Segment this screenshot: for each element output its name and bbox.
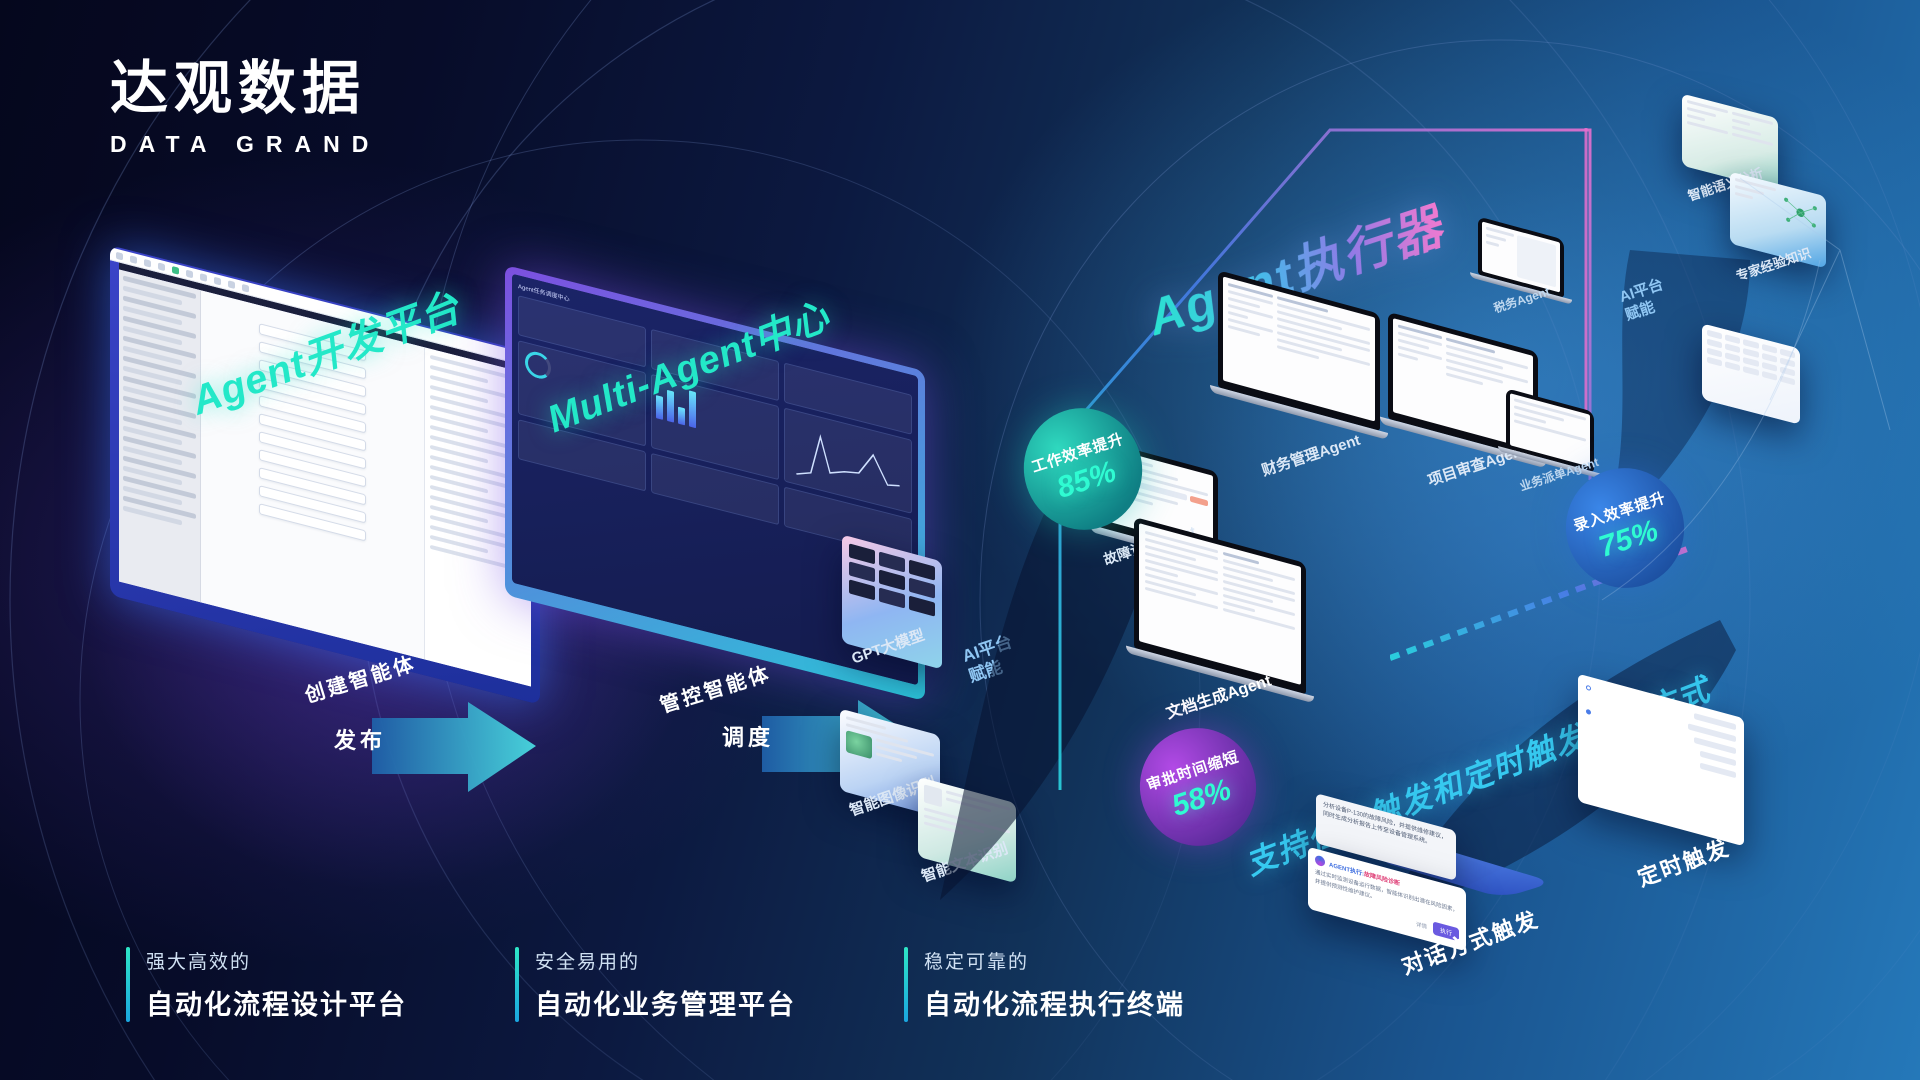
footer-captions: 强大高效的 自动化流程设计平台 安全易用的 自动化业务管理平台 稳定可靠的 自动… xyxy=(126,947,1185,1022)
left-sidebar[interactable] xyxy=(119,269,201,602)
accent-bar xyxy=(515,947,519,1022)
footer-item: 强大高效的 自动化流程设计平台 xyxy=(126,947,407,1022)
footer-title: 自动化流程设计平台 xyxy=(146,983,407,1022)
footer-subtitle: 安全易用的 xyxy=(535,947,796,974)
footer-title: 自动化业务管理平台 xyxy=(535,983,796,1022)
accent-bar xyxy=(126,947,130,1022)
arrow-publish xyxy=(300,700,560,810)
brand-name-cn: 达观数据 xyxy=(110,60,380,118)
arrow-label-publish: 发布 xyxy=(334,723,386,755)
arrow-label-dispatch: 调度 xyxy=(722,720,774,752)
brand-logo: 达观数据 DATA GRAND xyxy=(110,60,380,158)
brand-name-en: DATA GRAND xyxy=(110,131,380,158)
footer-subtitle: 稳定可靠的 xyxy=(924,947,1185,974)
detail-link[interactable]: 详情 xyxy=(1416,919,1427,930)
footer-subtitle: 强大高效的 xyxy=(146,947,407,974)
connector-lines-right xyxy=(1590,100,1920,660)
footer-item: 稳定可靠的 自动化流程执行终端 xyxy=(904,947,1185,1022)
progress-ring-icon xyxy=(525,349,551,382)
poster-canvas: 达观数据 DATA GRAND xyxy=(0,0,1920,1080)
radio-icon[interactable] xyxy=(1586,684,1591,690)
agent-avatar-icon xyxy=(1315,855,1325,868)
footer-title: 自动化流程执行终端 xyxy=(924,983,1185,1022)
accent-bar xyxy=(904,947,908,1022)
footer-item: 安全易用的 自动化业务管理平台 xyxy=(515,947,796,1022)
radio-icon-selected[interactable] xyxy=(1586,708,1591,714)
